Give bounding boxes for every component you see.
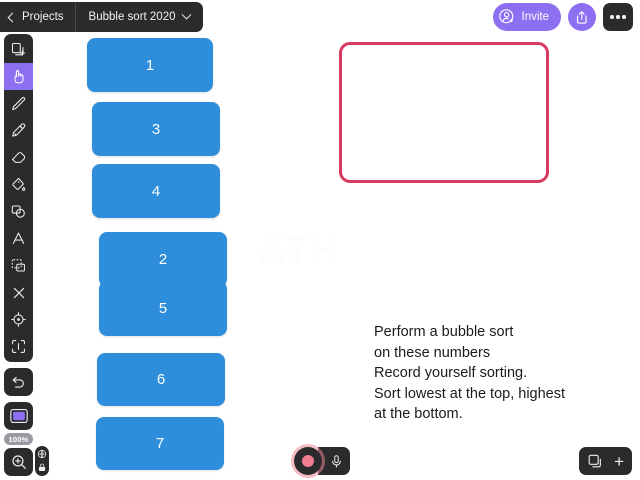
card-value: 2 (159, 251, 167, 268)
marquee-select-icon (10, 257, 27, 274)
top-right-actions: Invite (493, 3, 634, 31)
chevron-left-icon (8, 12, 18, 22)
highlighter-tool[interactable] (4, 117, 33, 144)
hand-icon (10, 68, 27, 85)
page-view-button[interactable] (4, 402, 33, 430)
shapes-tool[interactable] (4, 198, 33, 225)
pen-icon (10, 95, 27, 112)
pages-stack-icon[interactable] (587, 453, 605, 469)
add-page-tool[interactable] (4, 36, 33, 63)
top-bar: Projects Bubble sort 2020 Invite (0, 0, 640, 34)
document-title-dropdown[interactable]: Bubble sort 2020 (76, 2, 203, 32)
watermark: ATH (258, 232, 386, 308)
microphone-icon (329, 454, 344, 469)
lock-icon[interactable] (37, 462, 47, 473)
crop-frame-icon (10, 338, 27, 355)
close-x-icon (11, 285, 27, 301)
more-dot (610, 15, 614, 19)
add-page-icon (10, 41, 27, 58)
target-icon (10, 311, 27, 328)
grid-globe-icon[interactable] (37, 449, 47, 459)
select-region-tool[interactable] (4, 252, 33, 279)
paint-bucket-icon (10, 176, 27, 193)
card-value: 3 (152, 121, 160, 138)
zoom-level-badge: 100% (4, 433, 33, 445)
delete-tool[interactable] (4, 279, 33, 306)
card-value: 5 (159, 300, 167, 317)
number-card[interactable]: 1 (87, 38, 213, 92)
page-view-icon (9, 407, 29, 425)
number-card[interactable]: 3 (92, 102, 220, 156)
invite-label: Invite (522, 11, 550, 23)
canvas-area[interactable]: ATH 1 3 4 2 5 6 7 Perform a bubble sort … (0, 0, 640, 480)
instruction-text: Perform a bubble sort on these numbers R… (374, 322, 614, 425)
eraser-tool[interactable] (4, 144, 33, 171)
number-card[interactable]: 2 (99, 232, 227, 287)
number-card[interactable]: 5 (99, 281, 227, 336)
share-button[interactable] (568, 3, 596, 31)
chevron-down-icon (181, 9, 191, 19)
red-rectangle-annotation[interactable] (339, 42, 549, 183)
number-card[interactable]: 4 (92, 164, 220, 218)
zoom-in-button[interactable] (4, 448, 33, 476)
back-to-projects-button[interactable]: Projects (0, 2, 76, 32)
canvas-lock-controls (35, 446, 49, 476)
more-options-button[interactable] (603, 3, 633, 31)
person-add-icon (498, 8, 516, 26)
microphone-button[interactable] (318, 447, 350, 475)
undo-arrow-icon (10, 374, 27, 391)
record-button[interactable] (294, 447, 322, 475)
add-page-button[interactable]: + (614, 453, 624, 470)
pages-controls: + (579, 447, 632, 475)
more-dot (622, 15, 626, 19)
back-label: Projects (22, 11, 64, 23)
laser-tool[interactable] (4, 306, 33, 333)
invite-button[interactable]: Invite (493, 3, 562, 31)
record-circle-icon (302, 455, 314, 467)
more-dot (616, 15, 620, 19)
eraser-icon (10, 149, 27, 166)
undo-button[interactable] (4, 368, 33, 396)
pen-tool[interactable] (4, 90, 33, 117)
text-tool[interactable] (4, 225, 33, 252)
share-icon (574, 9, 591, 26)
highlighter-icon (10, 122, 27, 139)
recording-controls (294, 447, 350, 475)
card-value: 7 (156, 435, 164, 452)
hand-tool[interactable] (4, 63, 33, 90)
navigation-pill: Projects Bubble sort 2020 (0, 2, 203, 32)
card-value: 1 (146, 57, 154, 74)
number-card[interactable]: 7 (96, 417, 224, 470)
shapes-icon (10, 203, 27, 220)
document-title: Bubble sort 2020 (89, 11, 176, 23)
number-card[interactable]: 6 (97, 353, 225, 406)
text-a-icon (10, 230, 27, 247)
card-value: 4 (152, 183, 160, 200)
zoom-in-icon (10, 453, 28, 471)
fill-tool[interactable] (4, 171, 33, 198)
card-value: 6 (157, 371, 165, 388)
tool-palette (4, 34, 33, 362)
crop-tool[interactable] (4, 333, 33, 360)
whiteboard-app: ATH 1 3 4 2 5 6 7 Perform a bubble sort … (0, 0, 640, 480)
